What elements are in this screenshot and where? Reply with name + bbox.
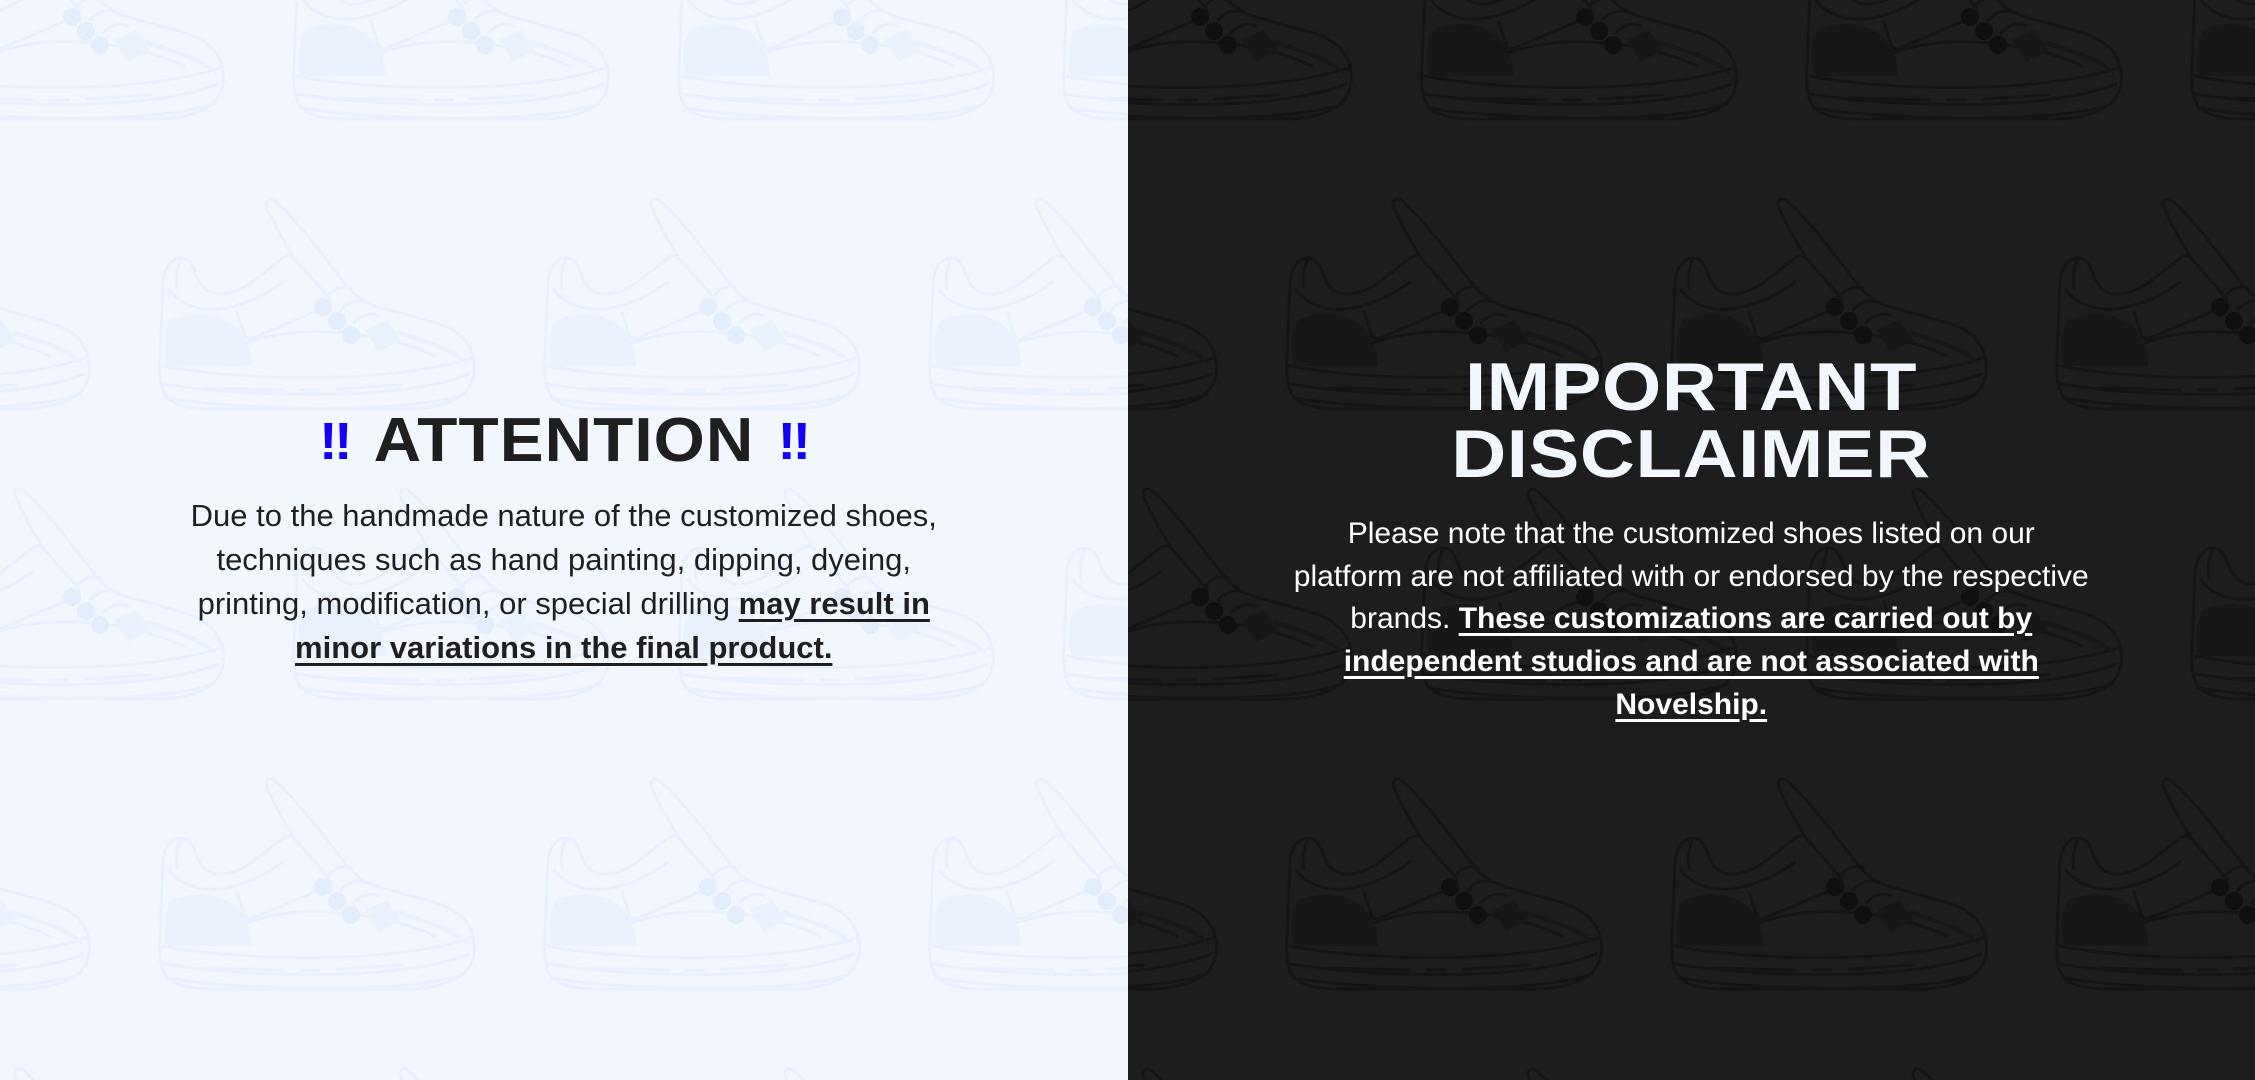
sneaker-icon bbox=[1395, 0, 1780, 180]
disclaimer-heading: IMPORTANT DISCLAIMER bbox=[1210, 354, 2173, 487]
sneaker-pattern-row bbox=[0, 750, 1128, 1050]
disclaimer-heading-line1: IMPORTANT bbox=[1465, 349, 1917, 425]
attention-heading: ‼ATTENTION‼ bbox=[108, 410, 1020, 472]
sneaker-icon bbox=[267, 0, 652, 180]
sneaker-icon bbox=[1395, 1040, 1780, 1080]
sneaker-icon bbox=[1780, 0, 2165, 180]
sneaker-icon bbox=[1780, 1040, 2165, 1080]
sneaker-icon bbox=[2165, 0, 2255, 180]
sneaker-icon bbox=[652, 1040, 1037, 1080]
sneaker-icon bbox=[903, 750, 1128, 1050]
disclaimer-heading-line2: DISCLAIMER bbox=[1452, 416, 1931, 492]
attention-content: ‼ATTENTION‼ Due to the handmade nature o… bbox=[134, 410, 994, 670]
sneaker-icon bbox=[2165, 1040, 2255, 1080]
sneaker-icon bbox=[0, 1040, 267, 1080]
sneaker-icon bbox=[1037, 0, 1127, 180]
disclaimer-body: Please note that the customized shoes li… bbox=[1291, 513, 2091, 726]
sneaker-pattern-row bbox=[1128, 750, 2255, 1050]
sneaker-pattern-row bbox=[0, 0, 1128, 180]
sneaker-icon bbox=[1128, 1040, 1395, 1080]
sneaker-pattern-row bbox=[1128, 0, 2255, 180]
sneaker-icon bbox=[0, 0, 267, 180]
sneaker-icon bbox=[518, 750, 903, 1050]
sneaker-icon bbox=[0, 750, 133, 1050]
disclaimer-panel: IMPORTANT DISCLAIMER Please note that th… bbox=[1128, 0, 2255, 1080]
sneaker-icon bbox=[1037, 1040, 1127, 1080]
sneaker-icon bbox=[133, 750, 518, 1050]
sneaker-icon bbox=[2030, 750, 2255, 1050]
sneaker-pattern-row bbox=[0, 1040, 1128, 1080]
sneaker-icon bbox=[1128, 750, 1261, 1050]
sneaker-icon bbox=[267, 1040, 652, 1080]
sneaker-icon bbox=[1128, 0, 1395, 180]
attention-body: Due to the handmade nature of the custom… bbox=[159, 494, 969, 670]
sneaker-icon bbox=[652, 0, 1037, 180]
disclaimer-banner: ‼ATTENTION‼ Due to the handmade nature o… bbox=[0, 0, 2255, 1080]
attention-panel: ‼ATTENTION‼ Due to the handmade nature o… bbox=[0, 0, 1128, 1080]
disclaimer-content: IMPORTANT DISCLAIMER Please note that th… bbox=[1261, 354, 2121, 726]
sneaker-icon bbox=[2165, 460, 2255, 760]
sneaker-pattern-row bbox=[1128, 1040, 2255, 1080]
sneaker-icon bbox=[1260, 750, 1645, 1050]
sneaker-icon bbox=[1645, 750, 2030, 1050]
attention-heading-word: ATTENTION bbox=[373, 406, 754, 475]
double-exclamation-left-icon: ‼ bbox=[319, 413, 350, 471]
double-exclamation-right-icon: ‼ bbox=[777, 413, 808, 471]
sneaker-icon bbox=[1037, 460, 1127, 760]
